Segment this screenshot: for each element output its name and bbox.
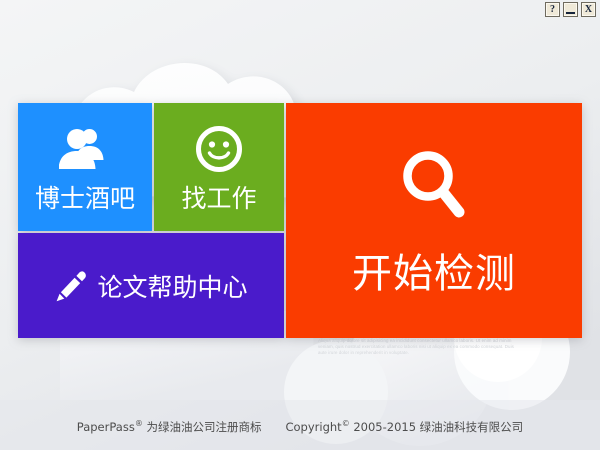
smiley-icon — [154, 125, 284, 173]
minimize-button[interactable] — [563, 2, 578, 17]
title-bar: ? X — [0, 0, 600, 22]
tile-grid: 博士酒吧 找工作 — [18, 103, 582, 338]
tile-bbs-label: 博士酒吧 — [18, 179, 152, 215]
people-icon — [18, 125, 152, 173]
tile-start-check[interactable]: 开始检测 — [286, 103, 582, 338]
registered-mark-icon: ® — [135, 419, 143, 428]
tile-paper-help-label: 论文帮助中心 — [97, 268, 247, 304]
copyright-word: Copyright — [285, 420, 341, 434]
help-button[interactable]: ? — [545, 2, 560, 17]
tile-jobs-label: 找工作 — [154, 179, 284, 215]
tile-jobs[interactable]: 找工作 — [154, 103, 284, 231]
background-placeholder-text: Aliqua aliquip dolore sit adipisicing ea… — [318, 338, 518, 356]
copyright-text: 2005-2015 绿油油科技有限公司 — [353, 420, 523, 434]
pencil-icon — [54, 269, 88, 303]
trademark-text: 为绿油油公司注册商标 — [146, 420, 261, 434]
copyright-mark-icon: © — [342, 419, 350, 428]
tile-bbs[interactable]: 博士酒吧 — [18, 103, 152, 231]
magnifier-icon — [286, 147, 582, 223]
tile-start-check-label: 开始检测 — [286, 241, 582, 299]
window-controls: ? X — [545, 2, 596, 17]
trademark-notice: PaperPass® 为绿油油公司注册商标 — [77, 419, 262, 435]
application-window: Aliqua aliquip dolore sit adipisicing ea… — [0, 0, 600, 450]
tile-paper-help[interactable]: 论文帮助中心 — [18, 233, 284, 338]
footer: PaperPass® 为绿油油公司注册商标 Copyright© 2005-20… — [0, 419, 600, 435]
copyright-notice: Copyright© 2005-2015 绿油油科技有限公司 — [285, 419, 523, 435]
trademark-brand: PaperPass — [77, 420, 135, 434]
close-button[interactable]: X — [581, 2, 596, 17]
